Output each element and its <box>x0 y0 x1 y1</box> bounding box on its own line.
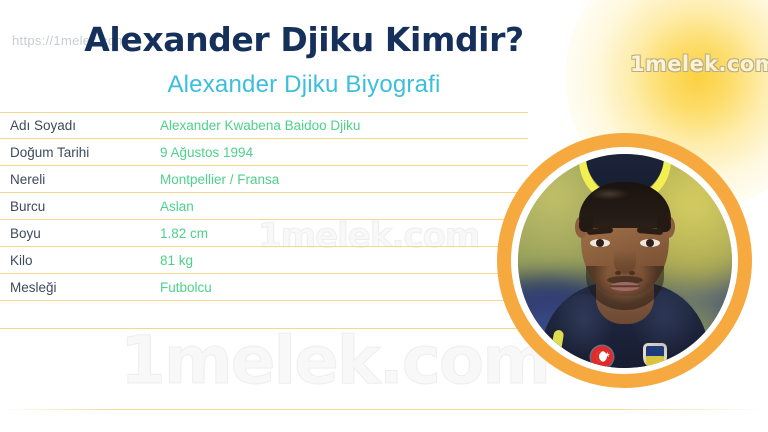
divider-line-bottom <box>0 409 768 410</box>
fact-label: Boyu <box>0 226 160 241</box>
fact-label: Adı Soyadı <box>0 118 160 133</box>
table-row: Mesleği Futbolcu <box>0 274 528 301</box>
fact-table: Adı Soyadı Alexander Kwabena Baidoo Djik… <box>0 112 528 301</box>
watermark-large: 1melek.com <box>120 322 549 399</box>
club-crest-icon <box>643 343 667 368</box>
table-row: Boyu 1.82 cm <box>0 220 528 247</box>
fact-label: Kilo <box>0 253 160 268</box>
fact-value: 81 kg <box>160 253 193 268</box>
eye-left <box>590 239 610 247</box>
page-subtitle: Alexander Djiku Biyografi <box>0 71 768 99</box>
star-icon: ★ <box>604 352 610 359</box>
table-row: Kilo 81 kg <box>0 247 528 274</box>
fact-label: Mesleği <box>0 280 160 295</box>
fact-value: Futbolcu <box>160 280 212 295</box>
portrait-inner-ring: ★ <box>511 147 738 374</box>
portrait-ring: ★ <box>497 133 752 388</box>
turkey-flag-badge-icon: ★ <box>591 346 613 368</box>
fact-value: Aslan <box>160 199 194 214</box>
divider-line <box>0 328 528 329</box>
table-row: Doğum Tarihi 9 Ağustos 1994 <box>0 139 528 166</box>
page-title: Alexander Djiku Kimdir? <box>0 20 768 59</box>
fact-label: Doğum Tarihi <box>0 145 160 160</box>
nose <box>614 250 636 274</box>
fact-label: Burcu <box>0 199 160 214</box>
avatar: ★ <box>518 154 732 368</box>
jersey-yellow-stripe <box>550 329 565 360</box>
eye-right <box>640 239 660 247</box>
fact-value: 1.82 cm <box>160 226 208 241</box>
fact-value: Montpellier / Fransa <box>160 172 279 187</box>
mouth <box>610 282 640 291</box>
fact-value: Alexander Kwabena Baidoo Djiku <box>160 118 360 133</box>
nostril-left <box>615 271 621 275</box>
nostril-right <box>629 271 635 275</box>
table-row: Burcu Aslan <box>0 193 528 220</box>
table-row: Nereli Montpellier / Fransa <box>0 166 528 193</box>
infographic-card: https://1melek.com 1melek.com Alexander … <box>0 0 768 432</box>
table-row: Adı Soyadı Alexander Kwabena Baidoo Djik… <box>0 112 528 139</box>
fact-value: 9 Ağustos 1994 <box>160 145 253 160</box>
fact-label: Nereli <box>0 172 160 187</box>
